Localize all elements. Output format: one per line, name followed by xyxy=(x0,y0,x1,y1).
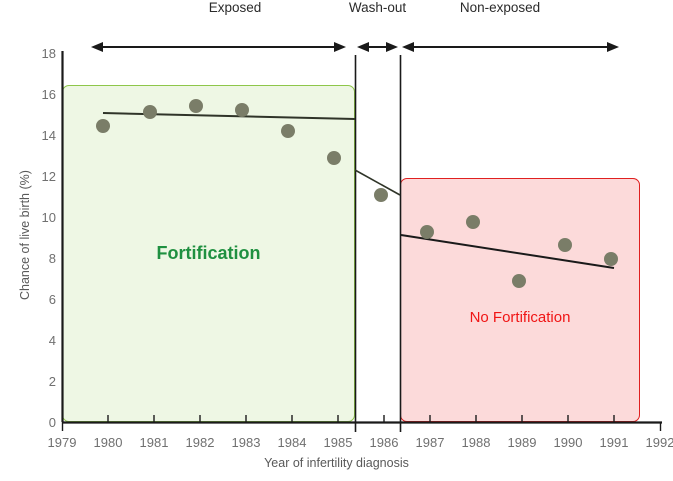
x-tick-label-1986: 1986 xyxy=(361,436,407,449)
y-tick-label-18: 18 xyxy=(30,47,56,60)
x-tick-label-1983: 1983 xyxy=(223,436,269,449)
exposed-trendline xyxy=(103,113,355,119)
x-tick-label-1981: 1981 xyxy=(131,436,177,449)
x-tick-label-1985: 1985 xyxy=(315,436,361,449)
x-tick-label-1987: 1987 xyxy=(407,436,453,449)
x-tick-label-1979: 1979 xyxy=(39,436,85,449)
y-tick-label-4: 4 xyxy=(30,334,56,347)
x-tick-label-1989: 1989 xyxy=(499,436,545,449)
period-arrow-washout xyxy=(357,42,398,52)
data-point-1983 xyxy=(235,103,249,117)
data-point-1980 xyxy=(96,119,110,133)
x-tick-label-1988: 1988 xyxy=(453,436,499,449)
y-tick-label-8: 8 xyxy=(30,252,56,265)
non-exposed-trendline xyxy=(401,235,614,268)
chart-container: Exposed Wash-out Non-exposed Chance of l… xyxy=(0,0,673,481)
x-tick-label-1984: 1984 xyxy=(269,436,315,449)
y-tick-label-2: 2 xyxy=(30,375,56,388)
y-tick-label-6: 6 xyxy=(30,293,56,306)
data-point-1982 xyxy=(189,99,203,113)
y-tick-label-16: 16 xyxy=(30,88,56,101)
data-point-1990 xyxy=(558,238,572,252)
period-arrow-exposed xyxy=(91,42,346,52)
x-tick-label-1980: 1980 xyxy=(85,436,131,449)
x-tick-label-1982: 1982 xyxy=(177,436,223,449)
plot-area xyxy=(0,0,673,481)
y-tick-label-10: 10 xyxy=(30,211,56,224)
data-points xyxy=(96,99,618,288)
data-point-1981 xyxy=(143,105,157,119)
y-tick-label-12: 12 xyxy=(30,170,56,183)
data-point-1984 xyxy=(281,124,295,138)
x-tick-label-1991: 1991 xyxy=(591,436,637,449)
x-tick-label-1992: 1992 xyxy=(637,436,673,449)
period-arrow-nonexposed xyxy=(402,42,619,52)
data-point-1987 xyxy=(420,225,434,239)
x-tick-label-1990: 1990 xyxy=(545,436,591,449)
y-tick-label-14: 14 xyxy=(30,129,56,142)
y-tick-label-0: 0 xyxy=(30,416,56,429)
data-point-1991 xyxy=(604,252,618,266)
data-point-1986 xyxy=(374,188,388,202)
data-point-1989 xyxy=(512,274,526,288)
data-point-1985 xyxy=(327,151,341,165)
data-point-1988 xyxy=(466,215,480,229)
